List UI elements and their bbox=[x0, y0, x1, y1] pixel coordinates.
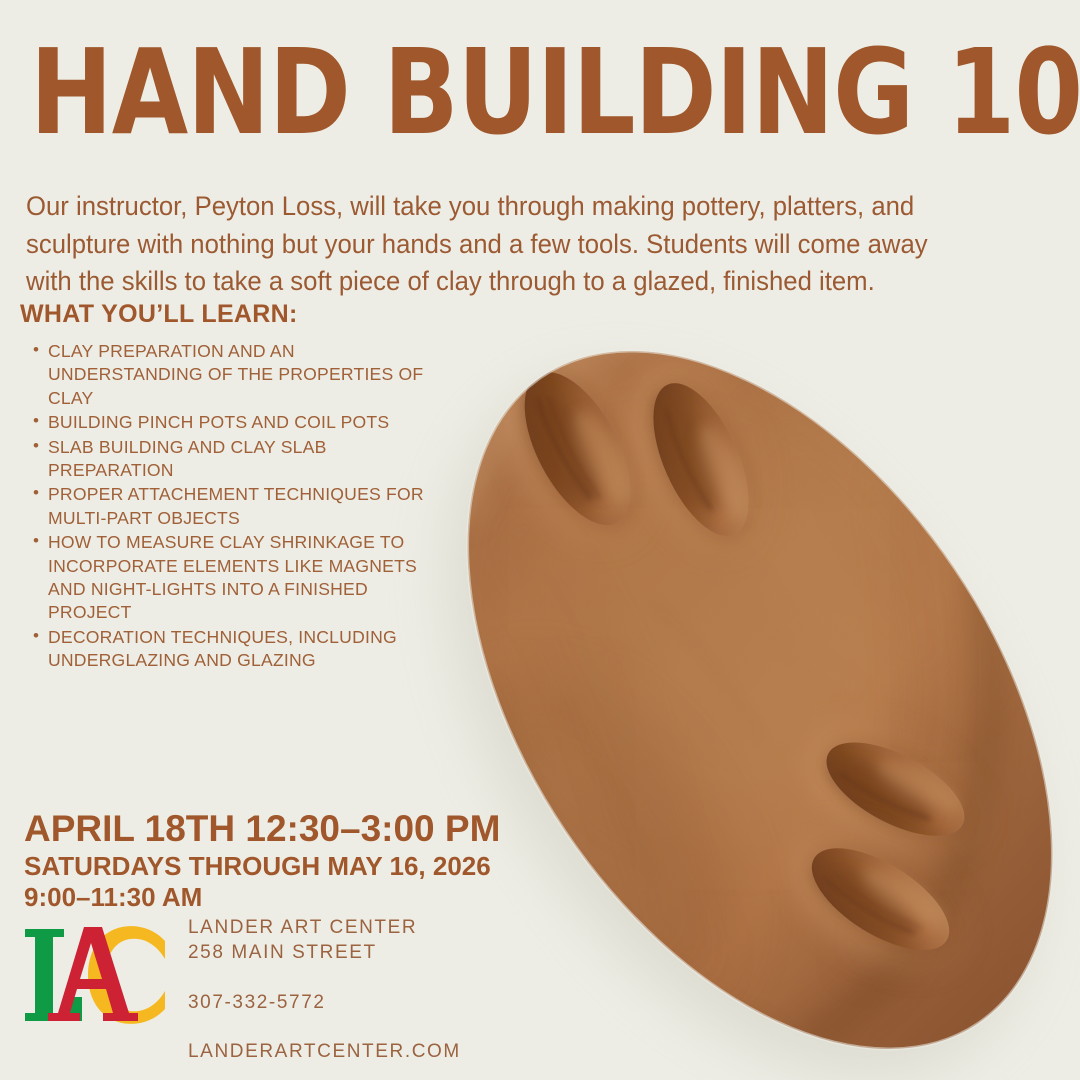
schedule-block: APRIL 18TH 12:30–3:00 PM SATURDAYS THROU… bbox=[24, 808, 494, 913]
list-item: SLAB BUILDING AND CLAY SLAB PREPARATION bbox=[48, 436, 448, 483]
footer-block: LANDER ART CENTER 258 MAIN STREET 307-33… bbox=[22, 915, 542, 1045]
contact-website[interactable]: LANDERARTCENTER.COM bbox=[188, 1039, 538, 1064]
list-item: PROPER ATTACHEMENT TECHNIQUES FOR MULTI-… bbox=[48, 483, 448, 530]
intro-paragraph: Our instructor, Peyton Loss, will take y… bbox=[26, 188, 948, 301]
list-item: BUILDING PINCH POTS AND COIL POTS bbox=[48, 411, 448, 434]
learn-section-heading: WHAT YOU’LL LEARN: bbox=[20, 300, 298, 329]
list-item: DECORATION TECHNIQUES, INCLUDING UNDERGL… bbox=[48, 626, 448, 673]
contact-street: 258 MAIN STREET bbox=[188, 940, 538, 965]
list-item: CLAY PREPARATION AND AN UNDERSTANDING OF… bbox=[48, 340, 448, 410]
learn-list: CLAY PREPARATION AND AN UNDERSTANDING OF… bbox=[24, 340, 448, 673]
lander-art-center-logo bbox=[22, 919, 177, 1031]
poster-canvas: HAND BUILDING 101 Our instructor, Peyton… bbox=[0, 0, 1080, 1080]
poster-content: HAND BUILDING 101 Our instructor, Peyton… bbox=[0, 0, 1080, 1080]
schedule-date-time: APRIL 18TH 12:30–3:00 PM bbox=[24, 808, 494, 849]
list-item: HOW TO MEASURE CLAY SHRINKAGE TO INCORPO… bbox=[48, 531, 448, 625]
contact-venue: LANDER ART CENTER bbox=[188, 915, 538, 940]
schedule-recurrence: SATURDAYS THROUGH MAY 16, 2026 bbox=[24, 851, 494, 882]
contact-phone[interactable]: 307-332-5772 bbox=[188, 990, 538, 1015]
schedule-alt-time: 9:00–11:30 AM bbox=[24, 882, 494, 913]
page-title: HAND BUILDING 101 bbox=[30, 38, 979, 147]
contact-block: LANDER ART CENTER 258 MAIN STREET 307-33… bbox=[188, 915, 538, 1064]
